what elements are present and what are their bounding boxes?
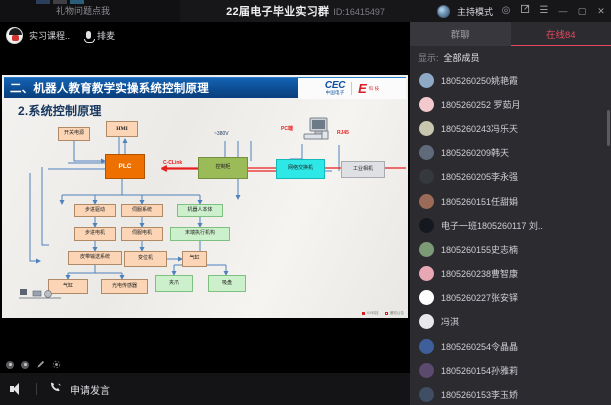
slide-footer-mark-2-label: 通知公告 — [390, 311, 404, 316]
node-cylinder-robot[interactable]: 气缸 — [182, 251, 207, 267]
speaker-icon[interactable] — [10, 382, 24, 396]
member-avatar[interactable] — [419, 363, 434, 378]
presentation-stage[interactable]: 二、机器人教育教学实操系统控制原理 CEC 中国电子 E 科 技 2.系统控制原… — [0, 48, 410, 373]
pen-icon-svg — [36, 360, 45, 369]
member-avatar[interactable] — [419, 266, 434, 281]
pen-icon[interactable] — [36, 360, 45, 369]
node-industrial-camera[interactable]: 工业相机 — [341, 161, 385, 178]
member-avatar[interactable] — [419, 387, 434, 402]
host-avatar[interactable] — [437, 5, 450, 18]
member-list-item[interactable]: 1805260151任甜娟 — [410, 189, 611, 213]
minimize-icon[interactable]: — — [557, 0, 569, 22]
footer-dot-outline-icon — [385, 312, 388, 315]
slide-footer-mark-1: XX科技 — [362, 311, 379, 316]
member-list-item[interactable]: 1805260243冯乐天 — [410, 116, 611, 140]
room-id: ID:16415497 — [333, 7, 385, 17]
laser-pointer-icon-svg — [52, 360, 61, 369]
diagram-nodes: HMI 开关电源 PLC 控制柜 网络交换机 工业相机 步进驱动 步进电机 皮带… — [2, 75, 408, 318]
computer-icon — [302, 117, 332, 145]
gear-icon[interactable]: ◎ — [500, 0, 512, 22]
member-avatar[interactable] — [419, 73, 434, 88]
member-list-item[interactable]: 1805260205李永强 — [410, 165, 611, 189]
record-dot-icon-2[interactable] — [21, 361, 29, 369]
member-name: 1805260227张安铎 — [441, 291, 518, 304]
node-belt-conveyor[interactable]: 皮带输送系统 — [68, 251, 122, 265]
node-gripper[interactable]: 夹爪 — [155, 275, 193, 292]
host-mode-label[interactable]: 主持模式 — [457, 5, 493, 18]
node-photoelectric-sensor[interactable]: 光电传感器 — [101, 279, 148, 294]
member-filter-value[interactable]: 全部成员 — [444, 51, 480, 64]
member-name: 1805260151任甜娟 — [441, 195, 518, 208]
member-list-item[interactable]: 1805260155史志楠 — [410, 237, 611, 261]
member-list-item[interactable]: 冯淇 — [410, 310, 611, 334]
member-avatar[interactable] — [419, 194, 434, 209]
node-end-effector[interactable]: 末端执行机构 — [170, 227, 230, 241]
member-list-item[interactable]: 电子一班1805260117 刘.. — [410, 213, 611, 237]
mic-queue-button[interactable]: 排麦 — [86, 29, 115, 42]
member-list-item[interactable]: 1805260154孙雅莉 — [410, 358, 611, 382]
member-avatar[interactable] — [419, 169, 434, 184]
gift-zone[interactable]: 礼物问题点我 — [0, 0, 180, 22]
member-list-item[interactable]: 1805260227张安铎 — [410, 286, 611, 310]
member-list-item[interactable]: 1805260209韩天 — [410, 141, 611, 165]
bottom-bar-divider — [36, 383, 37, 395]
member-avatar[interactable] — [419, 218, 434, 233]
node-positioner[interactable]: 变位机 — [124, 251, 167, 267]
conveyor-sketch-icon — [19, 287, 61, 299]
right-panel: 群聊 在线84 显示: 全部成员 1805260250姚艳霞1805260252… — [410, 22, 611, 405]
node-plc[interactable]: PLC — [105, 154, 145, 179]
slide-footer-mark-2: 通知公告 — [385, 311, 404, 316]
bottom-control-bar: 申请发言 — [0, 373, 410, 405]
member-avatar[interactable] — [419, 242, 434, 257]
member-avatar[interactable] — [419, 121, 434, 136]
member-name: 1805260153李玉娇 — [441, 388, 518, 401]
member-name: 1805260155史志楠 — [441, 243, 518, 256]
member-list[interactable]: 1805260250姚艳霞1805260252 罗茹月1805260243冯乐天… — [410, 68, 611, 405]
popout-icon-svg — [521, 4, 530, 13]
member-name: 1805260205李永强 — [441, 170, 518, 183]
node-stepper-drive[interactable]: 步进驱动 — [74, 204, 116, 217]
request-mic-label[interactable]: 申请发言 — [70, 382, 110, 397]
member-name: 1805260254令晶晶 — [441, 340, 518, 353]
title-bar: 礼物问题点我 22届电子毕业实习群ID:16415497 主持模式 ◎ ☰ — … — [0, 0, 611, 22]
speaker-icon-cone — [13, 383, 19, 395]
node-network-switch[interactable]: 网络交换机 — [276, 159, 325, 179]
speaker-name: 实习课程.. — [29, 29, 70, 42]
member-list-item[interactable]: 1805260250姚艳霞 — [410, 68, 611, 92]
node-hmi[interactable]: HMI — [106, 121, 138, 137]
panel-tabs: 群聊 在线84 — [410, 22, 611, 46]
tab-online-members[interactable]: 在线84 — [511, 22, 611, 46]
member-avatar[interactable] — [419, 314, 434, 329]
member-name: 1805260154孙雅莉 — [441, 364, 518, 377]
speaker-bar: 实习课程.. 排麦 — [0, 22, 410, 48]
member-list-scrollbar[interactable] — [607, 110, 610, 146]
slide-footer-marks: XX科技 通知公告 — [362, 311, 404, 316]
member-name: 电子一班1805260117 刘.. — [441, 219, 543, 232]
member-list-item[interactable]: 1805260153李玉娇 — [410, 382, 611, 405]
member-avatar[interactable] — [419, 290, 434, 305]
mic-queue-label: 排麦 — [97, 29, 115, 42]
phone-request-icon-svg — [49, 381, 62, 394]
meeting-window: 礼物问题点我 22届电子毕业实习群ID:16415497 主持模式 ◎ ☰ — … — [0, 0, 611, 405]
tab-group-chat[interactable]: 群聊 — [410, 22, 511, 46]
member-filter-label: 显示: — [418, 51, 439, 64]
phone-request-icon[interactable] — [49, 381, 62, 397]
label-pc: PC端 — [281, 125, 293, 132]
popout-icon[interactable] — [519, 0, 531, 22]
label-cclink: C-CLink — [163, 160, 182, 166]
member-name: 1805260209韩天 — [441, 146, 509, 159]
close-icon[interactable]: ✕ — [595, 0, 607, 22]
node-servo-motor[interactable]: 伺服电机 — [121, 227, 163, 241]
node-suction-cup[interactable]: 吸盘 — [208, 275, 246, 292]
member-name: 1805260238曹智康 — [441, 267, 518, 280]
node-robot-body[interactable]: 机器人本体 — [177, 204, 223, 217]
member-avatar[interactable] — [419, 339, 434, 354]
member-name: 冯淇 — [441, 315, 459, 328]
maximize-icon[interactable]: ▢ — [576, 0, 588, 22]
node-stepper-motor[interactable]: 步进电机 — [74, 227, 116, 241]
member-name: 1805260252 罗茹月 — [441, 98, 521, 111]
member-list-item[interactable]: 1805260254令晶晶 — [410, 334, 611, 358]
annotation-toolbar[interactable] — [6, 360, 61, 369]
gift-label[interactable]: 礼物问题点我 — [56, 0, 110, 22]
node-servo-system[interactable]: 伺服系统 — [121, 204, 163, 217]
member-list-item[interactable]: 1805260252 罗茹月 — [410, 92, 611, 116]
member-list-item[interactable]: 1805260238曹智康 — [410, 262, 611, 286]
label-voltage: ~380V — [214, 131, 229, 137]
record-dot-icon[interactable] — [6, 361, 14, 369]
footer-dot-icon — [362, 312, 365, 315]
node-switching-power[interactable]: 开关电源 — [58, 127, 90, 141]
slide-footer-mark-1-label: XX科技 — [367, 311, 379, 316]
member-filter[interactable]: 显示: 全部成员 — [410, 46, 611, 68]
member-name: 1805260243冯乐天 — [441, 122, 518, 135]
laser-pointer-icon[interactable] — [52, 360, 61, 369]
room-title: 22届电子毕业实习群 — [226, 6, 329, 18]
microphone-icon — [86, 31, 91, 39]
speaker-avatar[interactable] — [6, 27, 23, 44]
member-avatar[interactable] — [419, 145, 434, 160]
member-avatar[interactable] — [419, 97, 434, 112]
node-control-cabinet[interactable]: 控制柜 — [198, 157, 248, 179]
hamburger-icon[interactable]: ☰ — [538, 0, 550, 22]
label-rj45: RJ45 — [337, 130, 349, 136]
member-name: 1805260250姚艳霞 — [441, 74, 518, 87]
slide-canvas[interactable]: 二、机器人教育教学实操系统控制原理 CEC 中国电子 E 科 技 2.系统控制原… — [2, 75, 408, 318]
window-controls: 主持模式 ◎ ☰ — ▢ ✕ — [437, 0, 607, 22]
